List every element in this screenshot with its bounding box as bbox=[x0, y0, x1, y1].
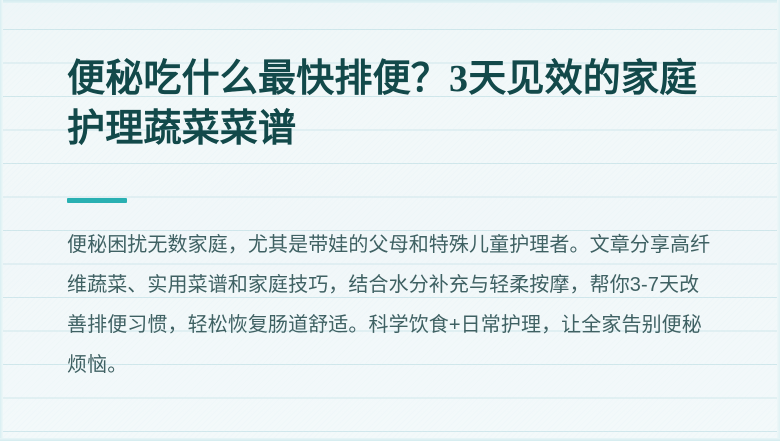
summary-paragraph: 便秘困扰无数家庭，尤其是带娃的父母和特殊儿童护理者。文章分享高纤维蔬菜、实用菜谱… bbox=[67, 225, 712, 385]
card-content: 便秘吃什么最快排便？3天见效的家庭护理蔬菜菜谱 便秘困扰无数家庭，尤其是带娃的父… bbox=[67, 0, 717, 441]
card-edge-left bbox=[0, 0, 3, 441]
page-title: 便秘吃什么最快排便？3天见效的家庭护理蔬菜菜谱 bbox=[67, 54, 715, 154]
accent-divider bbox=[67, 198, 127, 203]
article-cover-card: 便秘吃什么最快排便？3天见效的家庭护理蔬菜菜谱 便秘困扰无数家庭，尤其是带娃的父… bbox=[0, 0, 780, 441]
